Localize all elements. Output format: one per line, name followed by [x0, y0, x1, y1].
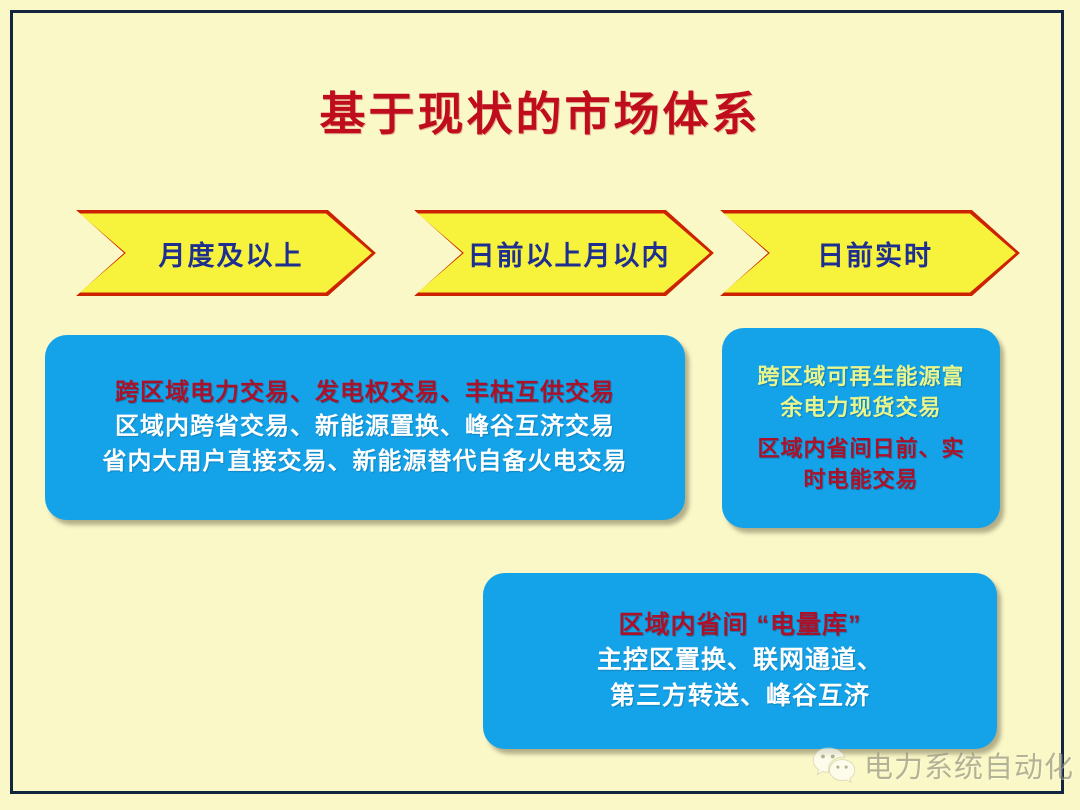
content-box-dayahead-realtime[interactable]: 跨区域可再生能源富 余电力现货交易 区域内省间日前、实 时电能交易: [722, 328, 1000, 528]
chevron-step-2-label: 日前以上月以内: [458, 234, 671, 273]
chevron-step-3[interactable]: 日前实时: [720, 210, 1020, 296]
chevron-step-2[interactable]: 日前以上月以内: [414, 210, 714, 296]
watermark: 电力系统自动化: [812, 744, 1074, 786]
content-box-power-bank[interactable]: 区域内省间 “电量库” 主控区置换、联网通道、 第三方转送、峰谷互济: [483, 573, 997, 749]
content-line: 省内大用户直接交易、新能源替代自备火电交易: [103, 445, 628, 479]
chevron-step-1[interactable]: 月度及以上: [76, 210, 376, 296]
chevron-step-3-label: 日前实时: [807, 234, 933, 273]
wechat-icon: [812, 746, 856, 784]
content-line: 主控区置换、联网通道、: [597, 643, 883, 679]
content-box-monthly[interactable]: 跨区域电力交易、发电权交易、丰枯互供交易 区域内跨省交易、新能源置换、峰谷互济交…: [45, 335, 685, 520]
content-line: 区域内省间日前、实: [757, 433, 964, 464]
content-line: 跨区域可再生能源富: [757, 361, 964, 392]
page-title: 基于现状的市场体系: [0, 78, 1080, 144]
content-group-interprovincial: 区域内省间日前、实 时电能交易: [757, 433, 964, 495]
content-line: 余电力现货交易: [757, 392, 964, 423]
content-line: 区域内省间 “电量库”: [619, 608, 862, 644]
content-line: 第三方转送、峰谷互济: [610, 679, 870, 715]
slide-canvas: 基于现状的市场体系 月度及以上 日前以上月以内 日前实时 跨区域电力交易、发电权…: [0, 0, 1080, 810]
content-line: 跨区域电力交易、发电权交易、丰枯互供交易: [115, 376, 615, 410]
watermark-label: 电力系统自动化: [864, 744, 1074, 786]
content-group-renewable: 跨区域可再生能源富 余电力现货交易: [757, 361, 964, 423]
content-line: 时电能交易: [757, 464, 964, 495]
content-line: 区域内跨省交易、新能源置换、峰谷互济交易: [115, 410, 615, 444]
chevron-step-1-label: 月度及以上: [149, 234, 304, 273]
